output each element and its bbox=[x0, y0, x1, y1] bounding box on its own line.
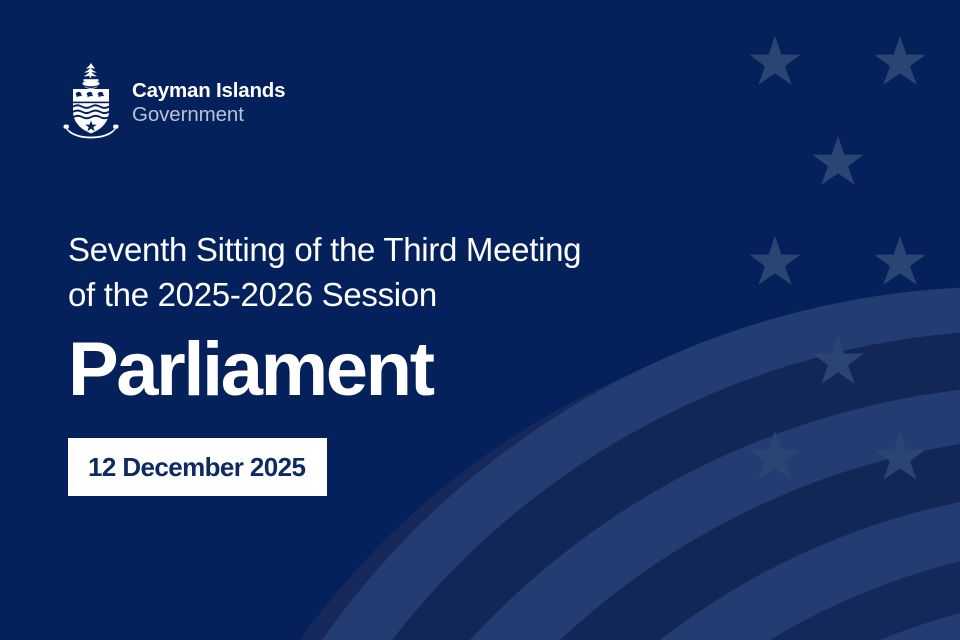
decorative-star-icon bbox=[812, 136, 863, 185]
date-badge: 12 December 2025 bbox=[68, 438, 327, 496]
decorative-star-icon bbox=[749, 431, 800, 480]
decorative-star-icon bbox=[874, 431, 925, 480]
star-field bbox=[749, 36, 925, 480]
banner-content: Seventh Sitting of the Third Meeting of … bbox=[68, 228, 688, 496]
decorative-star-icon bbox=[749, 236, 800, 285]
government-logo-lockup: Cayman Islands Government bbox=[62, 62, 285, 140]
sitting-subtitle-line-2: of the 2025-2026 Session bbox=[68, 273, 688, 318]
decorative-star-icon bbox=[874, 236, 925, 285]
cayman-islands-coat-of-arms-icon bbox=[62, 62, 120, 140]
decorative-star-icon bbox=[874, 36, 925, 85]
logo-line-cayman-islands: Cayman Islands bbox=[132, 79, 285, 103]
logo-wordmark: Cayman Islands Government bbox=[132, 75, 285, 127]
parliament-announcement-banner: Cayman Islands Government Seventh Sittin… bbox=[0, 0, 960, 640]
logo-line-government: Government bbox=[132, 103, 285, 127]
decorative-star-icon bbox=[749, 36, 800, 85]
page-title: Parliament bbox=[68, 332, 688, 408]
sitting-subtitle-line-1: Seventh Sitting of the Third Meeting bbox=[68, 231, 581, 268]
sitting-subtitle: Seventh Sitting of the Third Meeting of … bbox=[68, 228, 688, 318]
decorative-star-icon bbox=[812, 335, 863, 384]
